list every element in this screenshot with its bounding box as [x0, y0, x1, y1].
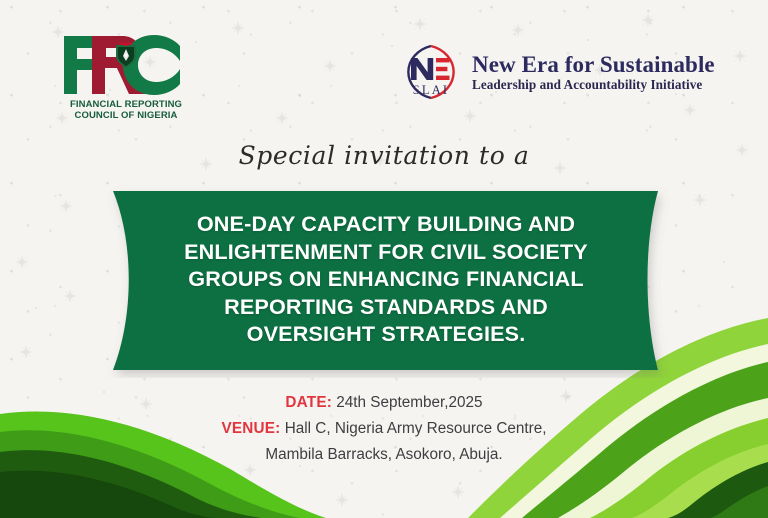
- venue-value-line1: Hall C, Nigeria Army Resource Centre,: [285, 420, 547, 437]
- neslai-letter-e: [436, 58, 450, 80]
- title-line-1: ONE-DAY CAPACITY BUILDING AND: [118, 210, 654, 238]
- title-banner-text: ONE-DAY CAPACITY BUILDING AND ENLIGHTENM…: [72, 210, 700, 348]
- neslai-monogram-sub: SLAI: [413, 83, 450, 97]
- frc-logo-mark: [62, 34, 186, 96]
- date-label: DATE:: [285, 394, 332, 411]
- frc-logo: FINANCIAL REPORTING COUNCIL OF NIGERIA: [62, 34, 212, 121]
- title-line-2: ENLIGHTENMENT FOR CIVIL SOCIETY: [118, 238, 654, 266]
- venue-label: VENUE:: [221, 420, 280, 437]
- neslai-logo: SLAI New Era for Sustainable Leadership …: [398, 44, 715, 102]
- frc-caption-line1: FINANCIAL REPORTING: [70, 99, 182, 110]
- title-line-4: REPORTING STANDARDS AND: [118, 293, 654, 321]
- title-line-5: OVERSIGHT STRATEGIES.: [118, 320, 654, 348]
- title-banner: ONE-DAY CAPACITY BUILDING AND ENLIGHTENM…: [72, 182, 700, 378]
- venue-value-line2: Mambila Barracks, Asokoro, Abuja.: [265, 446, 502, 463]
- event-venue-row: VENUE: Hall C, Nigeria Army Resource Cen…: [0, 416, 768, 442]
- neslai-letter-n: [411, 58, 433, 80]
- event-date-row: DATE: 24th September,2025: [0, 390, 768, 416]
- neslai-monogram-icon: SLAI: [398, 44, 464, 102]
- frc-logo-caption: FINANCIAL REPORTING COUNCIL OF NIGERIA: [62, 100, 190, 121]
- invitation-flyer: FINANCIAL REPORTING COUNCIL OF NIGERIA S…: [0, 0, 768, 518]
- event-venue-row-2: Mambila Barracks, Asokoro, Abuja.: [0, 442, 768, 468]
- frc-monogram-icon: [62, 34, 186, 96]
- neslai-title: New Era for Sustainable: [472, 52, 715, 77]
- title-line-3: GROUPS ON ENHANCING FINANCIAL: [118, 265, 654, 293]
- neslai-subtitle: Leadership and Accountability Initiative: [472, 77, 715, 92]
- invitation-script-line: Special invitation to a: [0, 141, 768, 171]
- event-details: DATE: 24th September,2025 VENUE: Hall C,…: [0, 390, 768, 468]
- neslai-wordmark: New Era for Sustainable Leadership and A…: [472, 52, 715, 94]
- date-value: 24th September,2025: [336, 394, 482, 411]
- frc-caption-line2: COUNCIL OF NIGERIA: [62, 111, 190, 122]
